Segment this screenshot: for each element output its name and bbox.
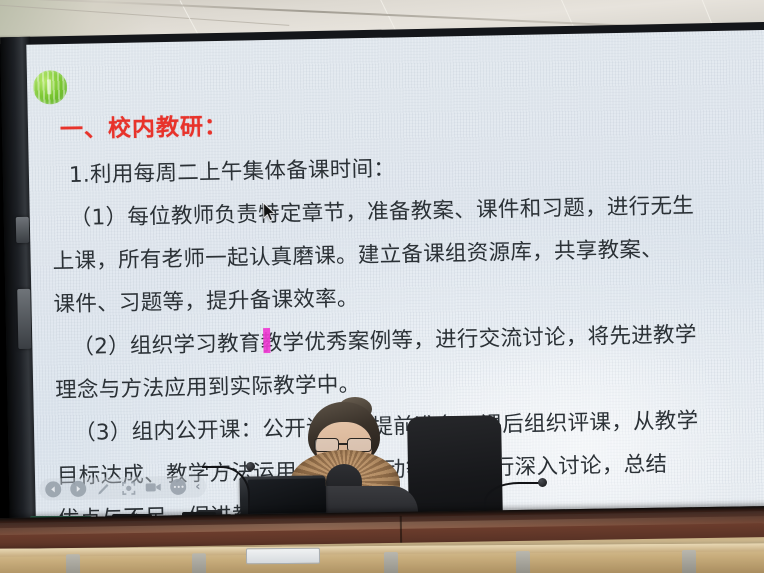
- front-row-bench: [0, 543, 764, 573]
- bezel-clip: [17, 289, 31, 349]
- video-camera-icon[interactable]: [145, 479, 161, 495]
- bench-post: [516, 551, 530, 573]
- text-caret: [263, 328, 271, 353]
- bench-post: [192, 553, 206, 573]
- mic-stem: [202, 466, 250, 514]
- laser-pointer-icon[interactable]: [120, 480, 136, 496]
- mic-head: [246, 462, 255, 471]
- more-options-icon[interactable]: [170, 479, 186, 495]
- bench-name-card: [246, 548, 320, 565]
- green-circle-logo-icon: [33, 70, 68, 105]
- ppt-presentation-toolbar[interactable]: ‹: [39, 475, 207, 500]
- mic-head: [538, 478, 547, 487]
- bench-post: [384, 552, 398, 573]
- bezel-clip: [16, 217, 30, 243]
- bench-post: [66, 554, 80, 573]
- slide-title: 一、校内教研：: [60, 107, 229, 144]
- next-slide-icon[interactable]: [70, 481, 86, 497]
- meeting-room-photo: 一、校内教研： 1.利用每周二上午集体备课时间： （1）每位教师负责特定章节，准…: [0, 0, 764, 573]
- bench-post: [682, 550, 696, 573]
- pen-icon[interactable]: [95, 480, 111, 496]
- previous-slide-icon[interactable]: [45, 481, 61, 497]
